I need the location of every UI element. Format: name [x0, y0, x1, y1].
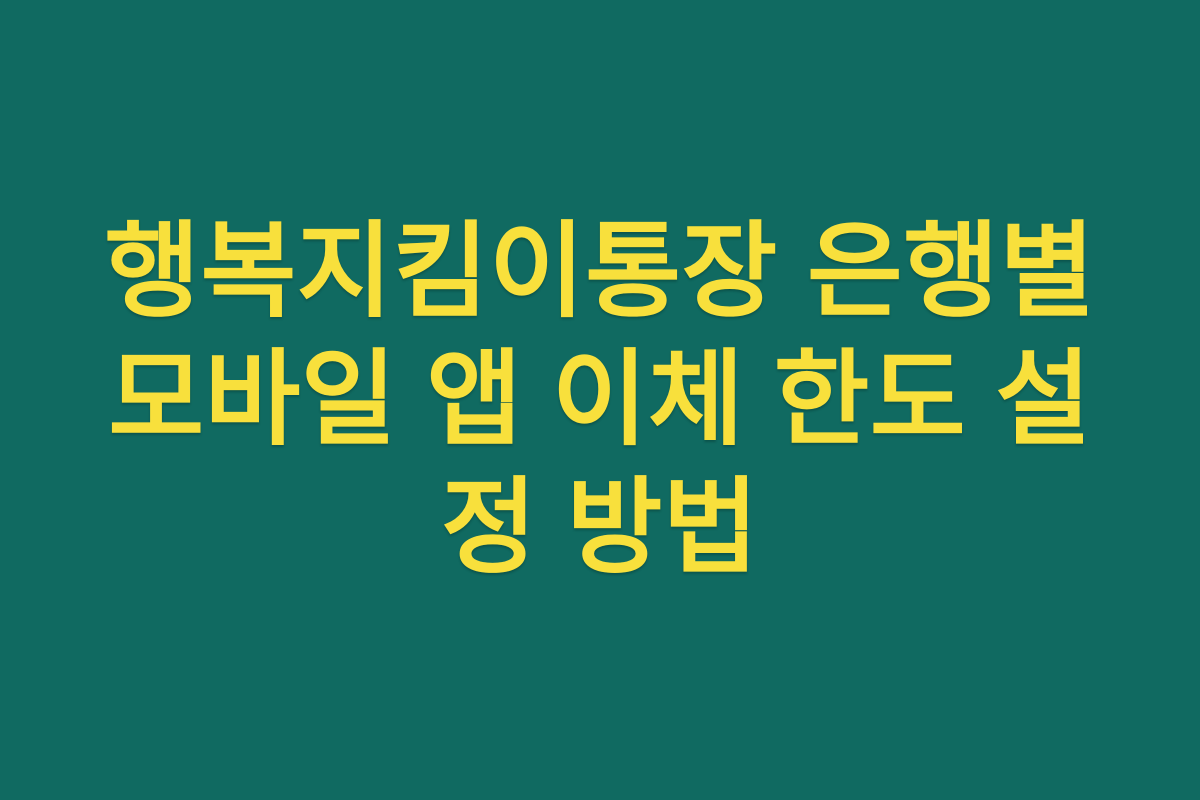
page-title: 행복지킴이통장 은행별 모바일 앱 이체 한도 설 정 방법	[95, 208, 1105, 592]
headline-line-1: 행복지킴이통장 은행별	[95, 208, 1105, 336]
headline-line-3: 정 방법	[95, 464, 1105, 592]
headline-line-2: 모바일 앱 이체 한도 설	[95, 336, 1105, 464]
thumbnail-banner: 행복지킴이통장 은행별 모바일 앱 이체 한도 설 정 방법	[0, 0, 1200, 800]
